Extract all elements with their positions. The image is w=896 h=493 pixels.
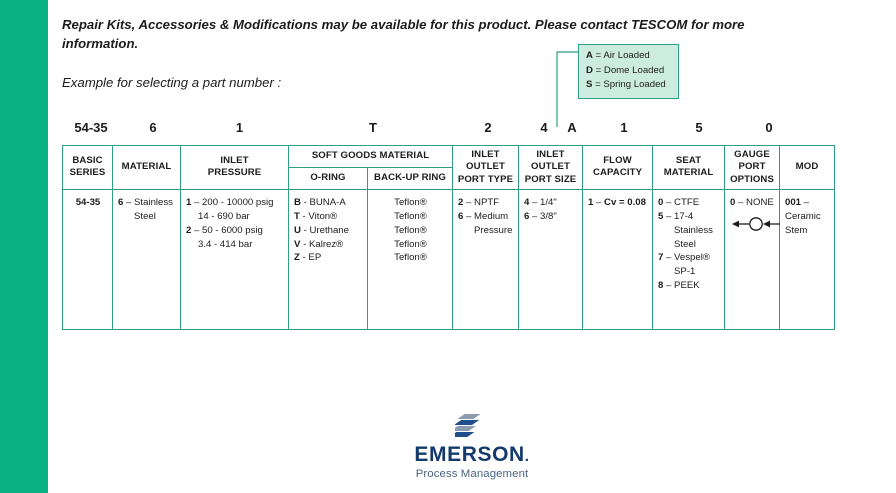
header-line: FLOW — [603, 155, 632, 166]
wordmark-text: EMERSON — [414, 443, 524, 466]
port-size-dash: – — [532, 211, 537, 222]
mod-label: Ceramic — [785, 210, 830, 224]
callout-label: Spring Loaded — [603, 79, 665, 90]
oring-label: Viton® — [308, 211, 337, 222]
backup-ring-value: Teflon® — [373, 251, 448, 265]
left-green-band — [0, 0, 48, 493]
header-basic-series: BASIC SERIES — [63, 146, 113, 190]
cell-inlet-pressure: 1 – 200 - 10000 psig 14 - 690 bar 2 – 50… — [181, 189, 289, 329]
cell-basic-series: 54-35 — [63, 189, 113, 329]
pressure-bar: 3.4 - 414 bar — [186, 238, 284, 252]
oring-dash: - — [303, 211, 306, 222]
page-content: Repair Kits, Accessories & Modifications… — [48, 0, 896, 493]
part-segment-basic-series: 54-35 — [62, 120, 120, 135]
header-inlet-outlet-port-size: INLET OUTLET PORT SIZE — [519, 146, 583, 190]
cell-back-up-ring: Teflon® Teflon® Teflon® Teflon® Teflon® — [368, 189, 453, 329]
example-label: Example for selecting a part number : — [62, 75, 281, 90]
port-size-code: 6 — [524, 211, 529, 222]
oring-label: Urethane — [309, 225, 348, 236]
header-line: SEAT — [676, 155, 701, 166]
pressure-dash: – — [194, 197, 199, 208]
port-type-dash: – — [466, 211, 471, 222]
callout-equals: = — [596, 50, 602, 61]
header-back-up-ring: BACK-UP RING — [368, 167, 453, 189]
port-type-code: 2 — [458, 197, 463, 208]
emerson-logo: EMERSON. Process Management — [48, 412, 896, 480]
callout-label: Dome Loaded — [604, 65, 664, 76]
part-segment-flow-capacity: 1 — [587, 120, 661, 135]
flow-code: 1 — [588, 197, 593, 208]
part-segment-loading-type: A — [557, 120, 587, 135]
example-part-number-row: 54-35 6 1 T 2 4 A 1 5 0 — [62, 120, 834, 142]
callout-equals: = — [596, 65, 602, 76]
table-body-row: 54-35 6 – Stainless Steel 1 – — [63, 189, 835, 329]
flow-label: Cv = 0.08 — [604, 197, 646, 208]
seat-dash: – — [666, 280, 671, 291]
material-code: 6 — [118, 197, 123, 208]
part-segment-gauge-port: 0 — [737, 120, 801, 135]
seat-label-cont: SP-1 — [658, 265, 720, 279]
header-line: MATERIAL — [664, 167, 714, 178]
emerson-tagline: Process Management — [48, 468, 896, 480]
seat-label: 17-4 — [674, 211, 693, 222]
gauge-port-symbol-wrap — [730, 215, 775, 238]
oring-dash: - — [303, 252, 306, 263]
pressure-psig: 50 - 6000 psig — [202, 225, 263, 236]
part-segment-material: 6 — [120, 120, 186, 135]
header-gauge-port-options: GAUGE PORT OPTIONS — [725, 146, 780, 190]
cell-seat-material: 0 – CTFE 5 – 17-4 Stainless Steel 7 – Ve — [653, 189, 725, 329]
header-line: PORT — [738, 161, 765, 172]
oring-code: Z — [294, 252, 300, 263]
callout-code: S — [586, 79, 592, 90]
cell-port-type: 2 – NPTF 6 – Medium Pressure — [453, 189, 519, 329]
flow-through-circle-icon — [730, 215, 782, 233]
pressure-code: 2 — [186, 225, 191, 236]
table-header-row-1: BASIC SERIES MATERIAL INLET PRESSURE SOF… — [63, 146, 835, 168]
callout-code: A — [586, 50, 593, 61]
header-line: PRESSURE — [208, 167, 262, 178]
header-flow-capacity: FLOW CAPACITY — [583, 146, 653, 190]
seat-label: Vespel® — [674, 252, 710, 263]
callout-code: D — [586, 65, 593, 76]
header-line: SERIES — [70, 167, 106, 178]
oring-dash: - — [303, 239, 306, 250]
pressure-psig: 200 - 10000 psig — [202, 197, 273, 208]
mod-dash: – — [804, 197, 809, 208]
header-line: OUTLET — [466, 161, 505, 172]
seat-code: 8 — [658, 280, 663, 291]
header-line: CAPACITY — [593, 167, 642, 178]
gauge-code: 0 — [730, 197, 735, 208]
cell-port-size: 4 – 1/4" 6 – 3/8" — [519, 189, 583, 329]
oring-label: Kalrez® — [309, 239, 343, 250]
gauge-dash: – — [738, 197, 743, 208]
backup-ring-value: Teflon® — [373, 224, 448, 238]
flow-dash: – — [596, 197, 601, 208]
callout-label: Air Loaded — [603, 50, 649, 61]
header-material: MATERIAL — [113, 146, 181, 190]
cell-mod: 001 – Ceramic Stem — [780, 189, 835, 329]
seat-label: CTFE — [674, 197, 699, 208]
seat-label-cont: Stainless — [658, 224, 720, 238]
oring-dash: - — [304, 197, 307, 208]
header-line: INLET — [471, 149, 499, 160]
header-line: BASIC — [72, 155, 102, 166]
seat-label-cont: Steel — [658, 238, 720, 252]
header-line: OPTIONS — [730, 174, 774, 185]
header-seat-material: SEAT MATERIAL — [653, 146, 725, 190]
material-label: Stainless — [134, 197, 173, 208]
oring-code: T — [294, 211, 300, 222]
port-type-code: 6 — [458, 211, 463, 222]
material-label-cont: Steel — [118, 210, 176, 224]
basic-series-value: 54-35 — [76, 197, 101, 208]
part-segment-inlet-pressure: 1 — [186, 120, 293, 135]
callout-row: S = Spring Loaded — [586, 78, 671, 93]
backup-ring-value: Teflon® — [373, 238, 448, 252]
port-type-label: NPTF — [474, 197, 499, 208]
pressure-code: 1 — [186, 197, 191, 208]
oring-code: U — [294, 225, 301, 236]
port-size-code: 4 — [524, 197, 529, 208]
port-type-dash: – — [466, 197, 471, 208]
header-o-ring: O-RING — [289, 167, 368, 189]
port-size-label: 1/4" — [540, 197, 557, 208]
backup-ring-value: Teflon® — [373, 210, 448, 224]
header-mod: MOD — [780, 146, 835, 190]
emerson-wordmark: EMERSON. — [48, 444, 896, 465]
seat-dash: – — [666, 197, 671, 208]
part-segment-port-type: 2 — [453, 120, 523, 135]
cell-flow-capacity: 1 – Cv = 0.08 — [583, 189, 653, 329]
part-segment-soft-goods: T — [293, 120, 453, 135]
oring-label: EP — [308, 252, 321, 263]
emerson-chevron-icon — [455, 412, 489, 442]
port-type-label: Medium — [474, 211, 508, 222]
pressure-bar: 14 - 690 bar — [186, 210, 284, 224]
header-line: OUTLET — [531, 161, 570, 172]
header-line: INLET — [536, 149, 564, 160]
callout-equals: = — [595, 79, 601, 90]
oring-code: B — [294, 197, 301, 208]
seat-dash: – — [666, 211, 671, 222]
port-size-label: 3/8" — [540, 211, 557, 222]
callout-row: D = Dome Loaded — [586, 64, 671, 79]
mod-label-cont: Stem — [785, 224, 830, 238]
mod-code: 001 — [785, 197, 801, 208]
seat-dash: – — [666, 252, 671, 263]
cell-gauge-port-options: 0 – NONE — [725, 189, 780, 329]
header-inlet-outlet-port-type: INLET OUTLET PORT TYPE — [453, 146, 519, 190]
callout-leader-line — [553, 49, 580, 127]
header-inlet-pressure: INLET PRESSURE — [181, 146, 289, 190]
port-size-dash: – — [532, 197, 537, 208]
cell-material: 6 – Stainless Steel — [113, 189, 181, 329]
pressure-dash: – — [194, 225, 199, 236]
header-soft-goods-material: SOFT GOODS MATERIAL — [289, 146, 453, 168]
material-dash: – — [126, 197, 131, 208]
oring-label: BUNA-A — [309, 197, 345, 208]
header-line: INLET — [220, 155, 248, 166]
gauge-label: NONE — [746, 197, 774, 208]
seat-code: 7 — [658, 252, 663, 263]
part-segment-seat-material: 5 — [661, 120, 737, 135]
backup-ring-value: Teflon® — [373, 196, 448, 210]
oring-dash: - — [304, 225, 307, 236]
header-line: PORT SIZE — [525, 174, 577, 185]
wordmark-dot: . — [525, 448, 530, 465]
loading-type-callout: A = Air Loaded D = Dome Loaded S = Sprin… — [578, 44, 679, 99]
part-number-matrix-table: BASIC SERIES MATERIAL INLET PRESSURE SOF… — [62, 145, 835, 330]
seat-code: 0 — [658, 197, 663, 208]
oring-code: V — [294, 239, 300, 250]
cell-o-ring: B - BUNA-A T - Viton® U - Urethane — [289, 189, 368, 329]
seat-label: PEEK — [674, 280, 700, 291]
port-type-label-cont: Pressure — [458, 224, 514, 238]
callout-row: A = Air Loaded — [586, 49, 671, 64]
header-line: GAUGE — [734, 149, 770, 160]
header-line: PORT TYPE — [458, 174, 513, 185]
seat-code: 5 — [658, 211, 663, 222]
